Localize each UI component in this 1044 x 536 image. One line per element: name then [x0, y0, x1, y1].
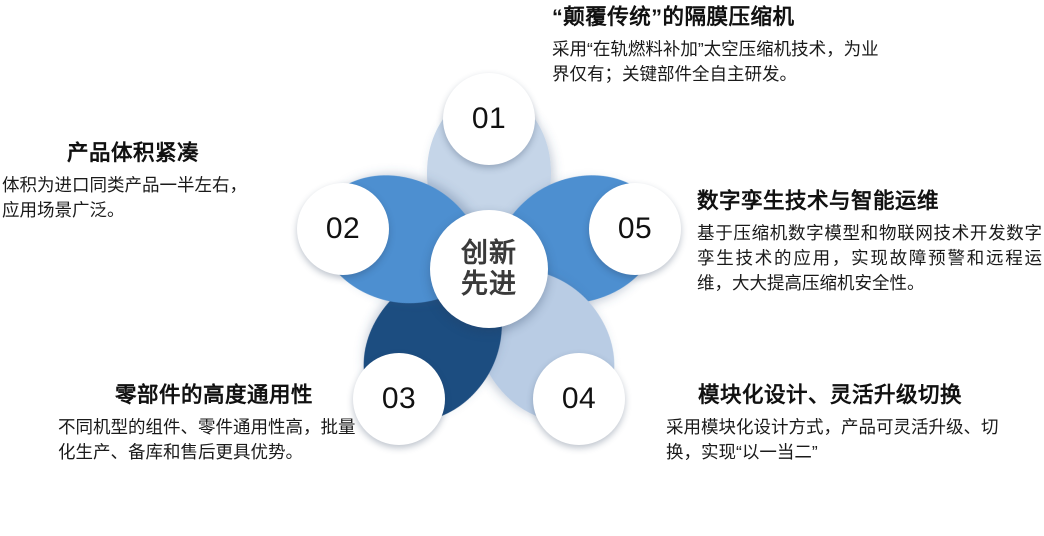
- center-label-line2: 先进: [461, 269, 517, 300]
- section-05: 数字孪生技术与智能运维 基于压缩机数字模型和物联网技术开发数字孪生技术的应用，实…: [697, 188, 1042, 295]
- petal-number-04: 04: [562, 384, 596, 414]
- section-05-title: 数字孪生技术与智能运维: [697, 188, 1042, 215]
- petal-node-03[interactable]: 03: [353, 353, 445, 445]
- petal-number-03: 03: [382, 384, 416, 414]
- section-04-title: 模块化设计、灵活升级切换: [660, 382, 1000, 409]
- petal-node-01[interactable]: 01: [443, 73, 535, 165]
- section-04: 模块化设计、灵活升级切换 采用模块化设计方式，产品可灵活升级、切换，实现“以一当…: [660, 382, 1000, 465]
- center-hub[interactable]: 创新 先进: [430, 210, 548, 328]
- section-02-title: 产品体积紧凑: [2, 140, 264, 167]
- section-01-title: “颠覆传统”的隔膜压缩机: [552, 4, 952, 31]
- section-02-body: 体积为进口同类产品一半左右，应用场景广泛。: [2, 173, 264, 223]
- petal-number-02: 02: [326, 214, 360, 244]
- petal-number-01: 01: [472, 104, 506, 134]
- section-05-body: 基于压缩机数字模型和物联网技术开发数字孪生技术的应用，实现故障预警和远程运维，大…: [697, 221, 1042, 296]
- petal-node-05[interactable]: 05: [589, 183, 681, 275]
- petal-number-05: 05: [618, 214, 652, 244]
- section-01-body: 采用“在轨燃料补加”太空压缩机技术，为业界仅有；关键部件全自主研发。: [552, 37, 882, 87]
- petal-node-04[interactable]: 04: [533, 353, 625, 445]
- section-02: 产品体积紧凑 体积为进口同类产品一半左右，应用场景广泛。: [2, 140, 264, 223]
- section-04-body: 采用模块化设计方式，产品可灵活升级、切换，实现“以一当二”: [666, 415, 1000, 465]
- section-01: “颠覆传统”的隔膜压缩机 采用“在轨燃料补加”太空压缩机技术，为业界仅有；关键部…: [552, 4, 952, 87]
- section-03-body: 不同机型的组件、零件通用性高，批量化生产、备库和售后更具优势。: [58, 415, 358, 465]
- petal-node-02[interactable]: 02: [297, 183, 389, 275]
- infographic-canvas: 01 02 03 04 05 创新 先进 “颠覆传统”的隔膜压缩机 采用“在轨燃…: [0, 0, 1044, 536]
- section-03: 零部件的高度通用性 不同机型的组件、零件通用性高，批量化生产、备库和售后更具优势…: [58, 382, 358, 465]
- section-03-title: 零部件的高度通用性: [70, 382, 358, 409]
- center-label-line1: 创新: [461, 238, 517, 269]
